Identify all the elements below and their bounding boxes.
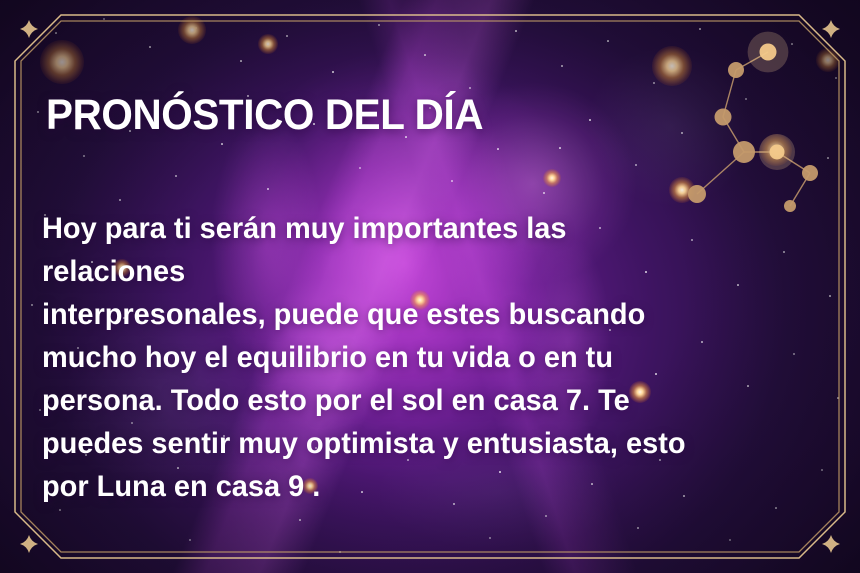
horoscope-card: PRONÓSTICO DEL DÍA Hoy para ti serán muy…	[0, 0, 860, 573]
forecast-body-text: Hoy para ti serán muy importantes las re…	[42, 207, 718, 508]
forecast-line: interpresonales, puede que estes buscand…	[42, 293, 718, 336]
forecast-line: persona. Todo esto por el sol en casa 7.…	[42, 379, 718, 422]
forecast-line: puedes sentir muy optimista y entusiasta…	[42, 422, 718, 465]
page-title: PRONÓSTICO DEL DÍA	[46, 91, 483, 140]
card-content: PRONÓSTICO DEL DÍA Hoy para ti serán muy…	[0, 0, 860, 573]
forecast-line: mucho hoy el equilibrio en tu vida o en …	[42, 336, 718, 379]
forecast-line: por Luna en casa 9 .	[42, 465, 718, 508]
forecast-line: Hoy para ti serán muy importantes las re…	[42, 207, 718, 293]
